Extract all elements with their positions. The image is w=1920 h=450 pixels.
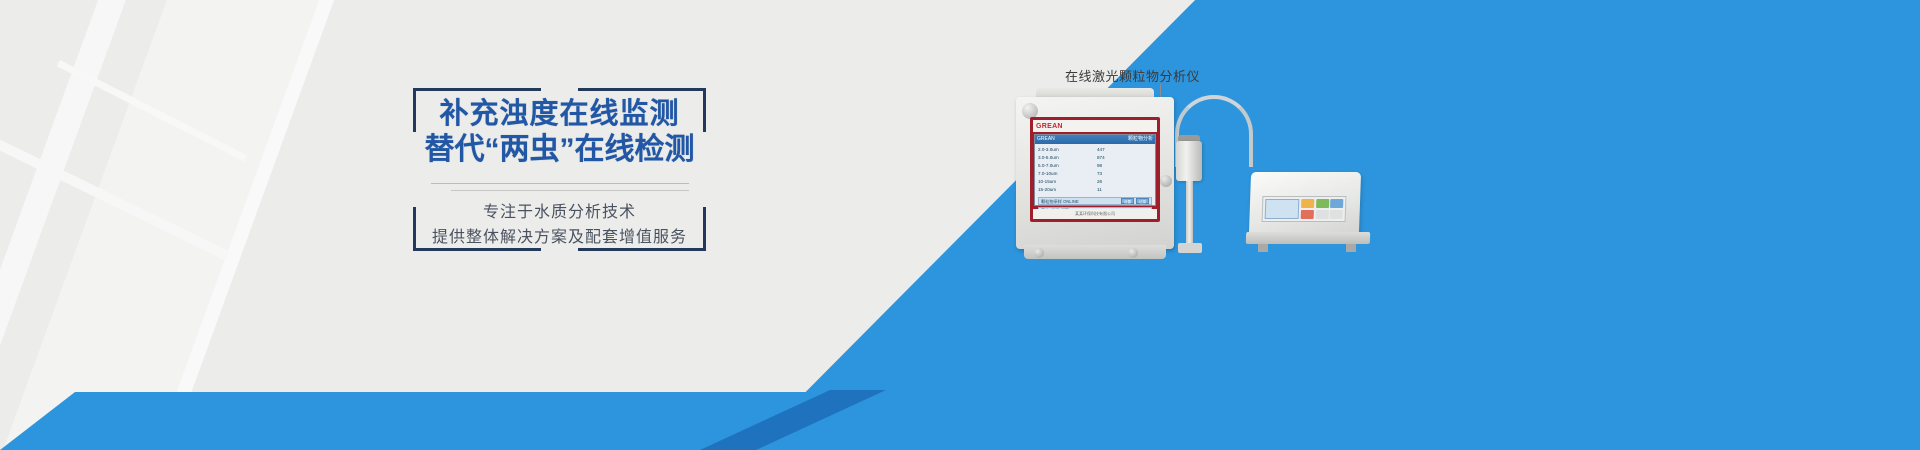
sensor-stem [1186,181,1193,247]
lcd-cell: 5.0-7.0um [1038,162,1093,169]
bench-keypad [1301,199,1344,219]
analyzer-label: 在线激光颗粒物分析仪 [1065,66,1200,85]
lcd-cell: 11 [1097,186,1152,193]
analyzer-brand-bar: GREAN [1033,120,1157,132]
headline-block: 补充浊度在线监测 替代“两虫”在线检测 专注于水质分析技术 提供整体解决方案及配… [413,88,706,251]
lcd-cell: 73 [1097,170,1152,177]
bench-key[interactable] [1301,199,1314,208]
headline-line-1: 补充浊度在线监测 [391,96,728,132]
lcd-status-bar: 颗粒物采样 ONLINE 设置 记录 [1038,197,1152,205]
lcd-cell: 98 [1097,162,1152,169]
analyzer-company-strip: 某某环保科技有限公司 [1033,209,1157,219]
lcd-button[interactable]: 记录 [1136,198,1149,204]
promo-banner: 补充浊度在线监测 替代“两虫”在线检测 专注于水质分析技术 提供整体解决方案及配… [0,0,1920,450]
bench-control-panel [1262,196,1347,222]
bench-leg [1258,244,1268,252]
lcd-button-group: 设置 记录 [1121,198,1151,204]
benchtop-particle-counter [1246,168,1372,272]
subtitle-line-2: 提供整体解决方案及配套增值服务 [391,225,728,250]
online-laser-particle-analyzer: GREAN GREAN 颗粒物分析 2.0-3.0um 447 3.0-5.0u… [1010,85,1196,265]
bench-key[interactable] [1330,199,1343,208]
subtitle: 专注于水质分析技术 提供整体解决方案及配套增值服务 [391,200,728,250]
analyzer-port-icon [1034,248,1044,258]
bench-lcd-screen [1265,199,1300,219]
lcd-cell: 3.0-5.0um [1038,154,1093,161]
lcd-button[interactable]: 设置 [1121,198,1134,204]
analyzer-lcd-screen: GREAN 颗粒物分析 2.0-3.0um 447 3.0-5.0um 874 … [1034,134,1156,206]
lcd-title-bar: GREAN 颗粒物分析 [1035,135,1155,144]
analyzer-brand-text: GREAN [1036,123,1063,130]
bench-key[interactable] [1315,210,1328,219]
lcd-reading-grid: 2.0-3.0um 447 3.0-5.0um 874 5.0-7.0um 98… [1035,144,1155,195]
sensor-foot [1178,243,1202,253]
blue-bottom-strip [0,392,820,450]
lcd-cell: 2.0-3.0um [1038,146,1093,153]
bench-key[interactable] [1316,199,1329,208]
headline: 补充浊度在线监测 替代“两虫”在线检测 [391,96,728,168]
lcd-cell: 10-15um [1038,178,1093,185]
subtitle-line-1: 专注于水质分析技术 [391,200,728,225]
sensor-module [1176,141,1202,181]
lcd-title-right: 颗粒物分析 [1128,135,1153,144]
analyzer-port-icon [1128,248,1138,258]
lcd-cell: 15-20um [1038,186,1093,193]
lcd-status-text: 颗粒物采样 ONLINE [1041,198,1079,205]
lcd-title-left: GREAN [1037,135,1055,144]
analyzer-port-icon [1160,175,1172,187]
divider-line-upper [431,183,689,184]
analyzer-base [1024,245,1166,259]
headline-line-2: 替代“两虫”在线检测 [391,132,728,168]
lcd-cell: 26 [1097,178,1152,185]
lcd-cell: 447 [1097,146,1152,153]
lcd-cell: 7.0-10um [1038,170,1093,177]
divider-line-lower [451,190,689,191]
bench-key[interactable] [1301,210,1314,219]
bench-base [1246,232,1370,244]
bench-leg [1346,244,1356,252]
lcd-cell: 874 [1097,154,1152,161]
bench-key[interactable] [1330,210,1343,219]
